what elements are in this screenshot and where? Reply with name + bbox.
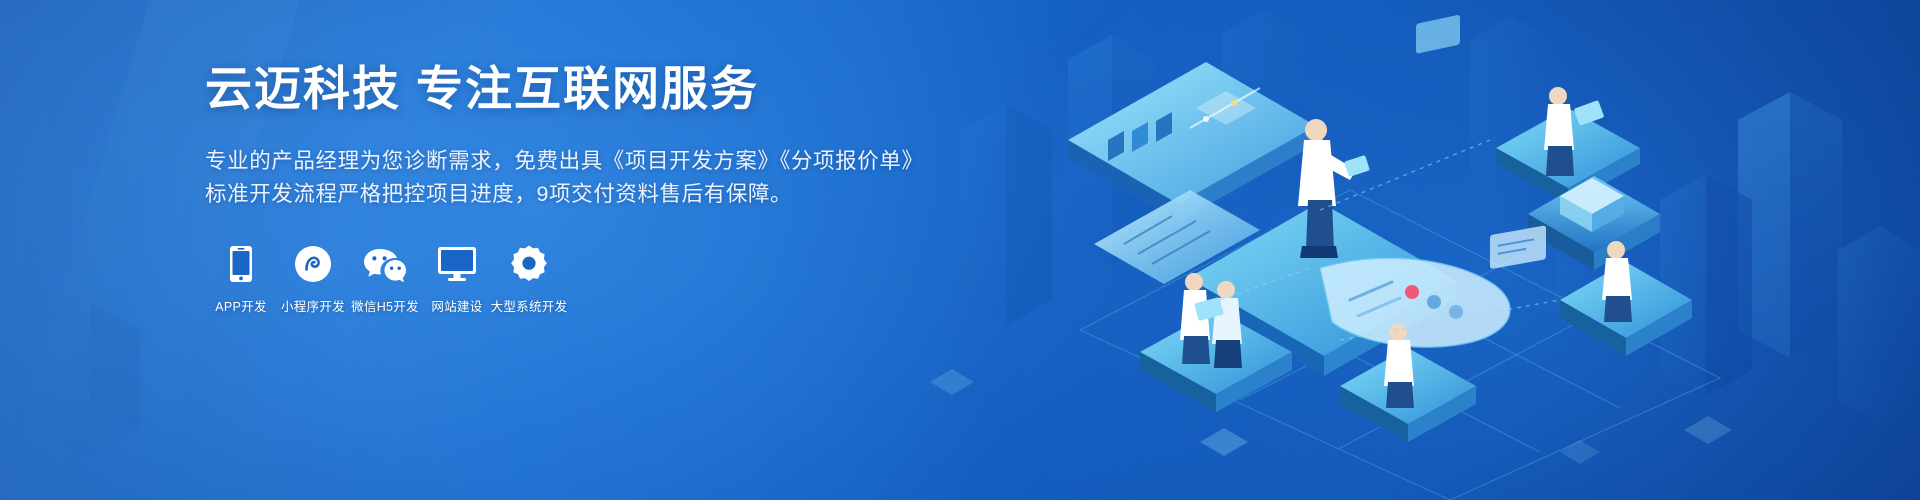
monitor-icon xyxy=(437,243,477,285)
subtitle-line-1: 专业的产品经理为您诊断需求，免费出具《项目开发方案》《分项报价单》 xyxy=(205,145,965,178)
service-label-miniprogram: 小程序开发 xyxy=(281,296,345,315)
service-item-wechat[interactable]: 微信H5开发 xyxy=(349,243,421,315)
service-label-wechat: 微信H5开发 xyxy=(351,296,419,315)
promo-banner: 云迈科技 专注互联网服务 专业的产品经理为您诊断需求，免费出具《项目开发方案》《… xyxy=(0,0,1920,500)
smartphone-icon xyxy=(229,243,253,285)
service-item-website[interactable]: 网站建设 xyxy=(421,243,493,315)
mini-program-icon xyxy=(294,243,332,285)
service-label-system: 大型系统开发 xyxy=(491,296,568,315)
service-item-miniprogram[interactable]: 小程序开发 xyxy=(277,243,349,315)
service-list: APP开发 小程序开发 xyxy=(205,243,965,315)
banner-headline: 云迈科技 专注互联网服务 xyxy=(205,60,965,119)
banner-content: 云迈科技 专注互联网服务 专业的产品经理为您诊断需求，免费出具《项目开发方案》《… xyxy=(205,60,965,315)
subtitle-line-2: 标准开发流程严格把控项目进度，9项交付资料售后有保障。 xyxy=(205,178,965,211)
card-platform-upper xyxy=(1496,87,1640,204)
service-item-system[interactable]: 大型系统开发 xyxy=(493,243,565,315)
gear-icon xyxy=(510,243,548,285)
hero-illustration xyxy=(1020,0,1920,500)
banner-subtitle: 专业的产品经理为您诊断需求，免费出具《项目开发方案》《分项报价单》 标准开发流程… xyxy=(205,145,965,211)
service-label-app: APP开发 xyxy=(215,296,267,315)
service-item-app[interactable]: APP开发 xyxy=(205,243,277,315)
service-label-website: 网站建设 xyxy=(431,296,482,315)
wechat-icon xyxy=(363,243,407,285)
